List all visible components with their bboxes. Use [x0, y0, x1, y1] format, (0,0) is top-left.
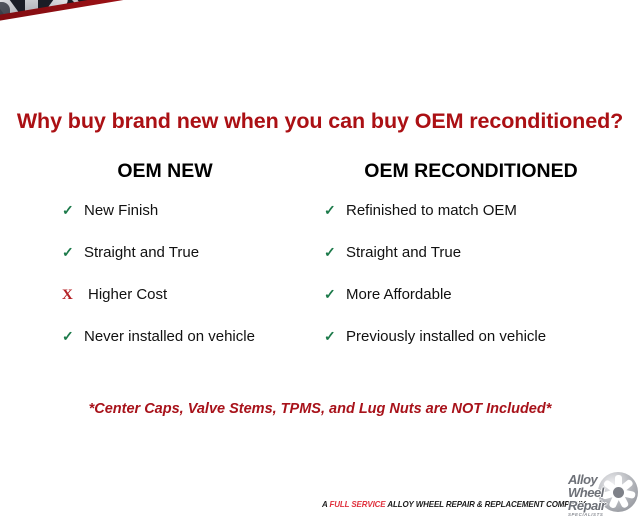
- feature-label: Straight and True: [346, 245, 461, 260]
- check-icon: ✓: [324, 329, 346, 343]
- tagline-prefix: A: [322, 500, 329, 509]
- disclaimer-note: *Center Caps, Valve Stems, TPMS, and Lug…: [0, 401, 640, 417]
- feature-label: Refinished to match OEM: [346, 203, 517, 218]
- list-item: ✓ More Affordable: [310, 287, 640, 329]
- feature-label: New Finish: [84, 203, 158, 218]
- list-item: ✓ Previously installed on vehicle: [310, 329, 640, 371]
- page-title: Why buy brand new when you can buy OEM r…: [0, 109, 640, 134]
- logo-line-specialists: SPECIALISTS: [568, 513, 624, 517]
- logo-line-repair: Repair: [568, 499, 624, 512]
- column-heading-oem-reconditioned: OEM RECONDITIONED: [310, 160, 640, 183]
- tagline-highlight: FULL SERVICE: [329, 500, 385, 509]
- list-item: ✓ Straight and True: [10, 245, 310, 287]
- column-oem-new: OEM NEW ✓ New Finish ✓ Straight and True…: [0, 160, 310, 371]
- tagline-suffix: ALLOY WHEEL REPAIR & REPLACEMENT COMPANY: [386, 500, 586, 509]
- list-item: ✓ Refinished to match OEM: [310, 203, 640, 245]
- comparison-columns: OEM NEW ✓ New Finish ✓ Straight and True…: [0, 160, 640, 371]
- feature-label: Previously installed on vehicle: [346, 329, 546, 344]
- check-icon: ✓: [62, 245, 84, 259]
- feature-list-oem-new: ✓ New Finish ✓ Straight and True X Highe…: [10, 203, 310, 371]
- list-item: X Higher Cost: [10, 287, 310, 329]
- list-item: ✓ Never installed on vehicle: [10, 329, 310, 371]
- feature-label: More Affordable: [346, 287, 452, 302]
- column-heading-oem-new: OEM NEW: [10, 160, 310, 183]
- list-item: ✓ Straight and True: [310, 245, 640, 287]
- footer-tagline: A FULL SERVICE ALLOY WHEEL REPAIR & REPL…: [322, 500, 585, 509]
- check-icon: ✓: [324, 287, 346, 301]
- slide-canvas: Why buy brand new when you can buy OEM r…: [0, 0, 640, 532]
- banner-right-whitespace: [196, 0, 640, 96]
- company-logo: Alloy Wheel Repair SPECIALISTS: [568, 470, 638, 516]
- feature-label: Never installed on vehicle: [84, 329, 255, 344]
- cross-icon: X: [62, 288, 84, 303]
- list-item: ✓ New Finish: [10, 203, 310, 245]
- check-icon: ✓: [324, 245, 346, 259]
- column-oem-reconditioned: OEM RECONDITIONED ✓ Refinished to match …: [310, 160, 640, 371]
- check-icon: ✓: [324, 203, 346, 217]
- feature-label: Straight and True: [84, 245, 199, 260]
- feature-list-oem-reconditioned: ✓ Refinished to match OEM ✓ Straight and…: [310, 203, 640, 371]
- header-banner: [0, 0, 640, 96]
- feature-label: Higher Cost: [84, 287, 167, 302]
- logo-wordmark: Alloy Wheel Repair SPECIALISTS: [568, 473, 624, 517]
- check-icon: ✓: [62, 329, 84, 343]
- check-icon: ✓: [62, 203, 84, 217]
